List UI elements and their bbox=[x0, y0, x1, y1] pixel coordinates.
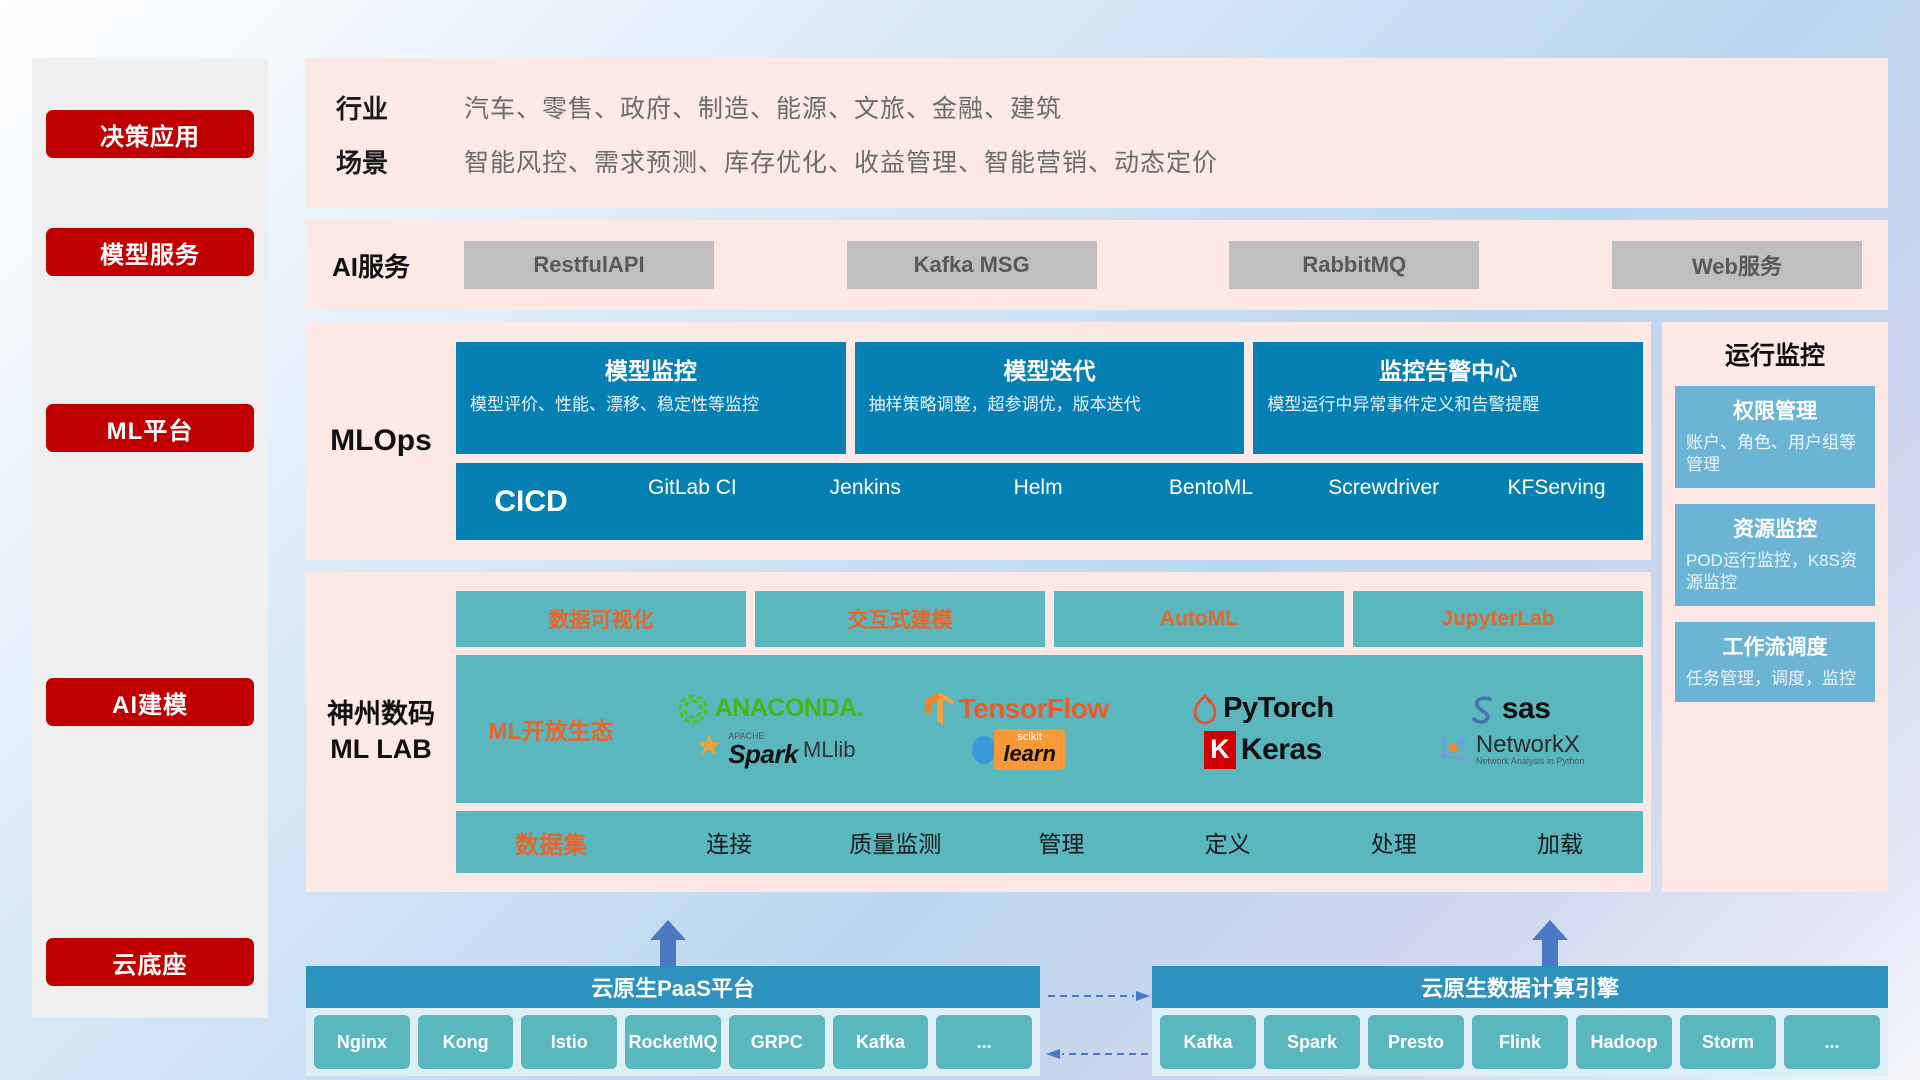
keras-wordmark: Keras bbox=[1241, 733, 1322, 767]
anaconda-icon bbox=[676, 692, 710, 726]
paas-chip-istio[interactable]: Istio bbox=[521, 1015, 617, 1069]
ml-lab-label-line1: 神州数码 bbox=[306, 697, 456, 732]
dataset-item-load[interactable]: 加载 bbox=[1477, 825, 1643, 859]
paas-chip-kong[interactable]: Kong bbox=[418, 1015, 514, 1069]
dataset-item-define[interactable]: 定义 bbox=[1145, 825, 1311, 859]
scenario-values: 智能风控、需求预测、库存优化、收益管理、智能营销、动态定价 bbox=[464, 143, 1218, 179]
monitor-card-desc: POD运行监控，K8S资源监控 bbox=[1686, 550, 1864, 594]
mlops-card-list: 模型监控 模型评价、性能、漂移、稳定性等监控 模型迭代 抽样策略调整，超参调优，… bbox=[456, 342, 1643, 454]
engine-chip-list: Kafka Spark Presto Flink Hadoop Storm ..… bbox=[1152, 1008, 1888, 1076]
mlops-card-title: 监控告警中心 bbox=[1267, 352, 1629, 386]
pytorch-icon bbox=[1192, 692, 1218, 726]
stack-layer-rail: 决策应用 模型服务 ML平台 AI建模 云底座 bbox=[32, 58, 268, 1018]
cicd-item-list: GitLab CI Jenkins Helm BentoML Screwdriv… bbox=[606, 474, 1643, 530]
mlops-card-title: 模型迭代 bbox=[869, 352, 1231, 386]
scenario-label: 场景 bbox=[336, 143, 464, 180]
dataset-bar: 数据集 连接 质量监测 管理 定义 处理 加载 bbox=[456, 811, 1643, 873]
sas-icon bbox=[1469, 693, 1497, 725]
keras-logo: K Keras bbox=[1204, 731, 1322, 769]
ai-service-chip-restfulapi[interactable]: RestfulAPI bbox=[464, 241, 714, 289]
ml-ecosystem-logo-grid: ANACONDA. TensorFlow bbox=[646, 688, 1643, 770]
cicd-bar: CICD GitLab CI Jenkins Helm BentoML Scre… bbox=[456, 463, 1643, 540]
monitor-card-desc: 任务管理，调度，监控 bbox=[1686, 668, 1864, 690]
mlops-label: MLOps bbox=[306, 424, 456, 458]
mlops-card-model-iteration[interactable]: 模型迭代 抽样策略调整，超参调优，版本迭代 bbox=[855, 342, 1245, 454]
engine-up-arrow bbox=[1530, 920, 1570, 966]
dataset-item-list: 连接 质量监测 管理 定义 处理 加载 bbox=[646, 825, 1643, 859]
dataset-item-process[interactable]: 处理 bbox=[1311, 825, 1477, 859]
engine-title: 云原生数据计算引擎 bbox=[1152, 966, 1888, 1008]
mllib-wordmark: MLlib bbox=[803, 737, 856, 763]
paas-chip-rocketmq[interactable]: RocketMQ bbox=[625, 1015, 721, 1069]
pytorch-logo: PyTorch bbox=[1192, 692, 1333, 726]
mlops-card-title: 模型监控 bbox=[470, 352, 832, 386]
cicd-item-bentoml[interactable]: BentoML bbox=[1124, 474, 1297, 530]
ml-ecosystem-label: ML开放生态 bbox=[456, 712, 646, 746]
ml-lab-label-line2: ML LAB bbox=[306, 732, 456, 767]
cloud-base-section: 云原生PaaS平台 Nginx Kong Istio RocketMQ GRPC… bbox=[306, 920, 1888, 1078]
engine-chip-flink[interactable]: Flink bbox=[1472, 1015, 1568, 1069]
engine-chip-kafka[interactable]: Kafka bbox=[1160, 1015, 1256, 1069]
tensorflow-icon bbox=[924, 691, 954, 727]
bidirectional-connector bbox=[1046, 982, 1150, 1068]
monitor-card-permission[interactable]: 权限管理 账户、角色、用户组等管理 bbox=[1675, 386, 1875, 488]
cicd-item-helm[interactable]: Helm bbox=[952, 474, 1125, 530]
rail-item-label: 模型服务 bbox=[100, 235, 200, 270]
cicd-title: CICD bbox=[456, 485, 606, 519]
monitor-card-title: 工作流调度 bbox=[1686, 631, 1864, 661]
rail-item-model-service[interactable]: 模型服务 bbox=[46, 228, 254, 276]
engine-chip-more[interactable]: ... bbox=[1784, 1015, 1880, 1069]
paas-chip-kafka[interactable]: Kafka bbox=[833, 1015, 929, 1069]
networkx-icon bbox=[1435, 732, 1471, 768]
learn-wordmark: learn bbox=[1003, 743, 1056, 765]
rail-item-cloud-base[interactable]: 云底座 bbox=[46, 938, 254, 986]
monitor-card-title: 权限管理 bbox=[1686, 395, 1864, 425]
industry-values: 汽车、零售、政府、制造、能源、文旅、金融、建筑 bbox=[464, 89, 1062, 125]
industry-row: 行业 汽车、零售、政府、制造、能源、文旅、金融、建筑 bbox=[336, 80, 1888, 134]
scenario-row: 场景 智能风控、需求预测、库存优化、收益管理、智能营销、动态定价 bbox=[336, 134, 1888, 188]
industry-label: 行业 bbox=[336, 89, 464, 126]
ml-lab-label: 神州数码 ML LAB bbox=[306, 697, 456, 767]
mlops-band: MLOps 模型监控 模型评价、性能、漂移、稳定性等监控 模型迭代 抽样策略调整… bbox=[306, 322, 1651, 560]
rail-item-ml-platform[interactable]: ML平台 bbox=[46, 404, 254, 452]
mlops-card-desc: 模型运行中异常事件定义和告警提醒 bbox=[1267, 394, 1629, 416]
runtime-monitoring-title: 运行监控 bbox=[1675, 336, 1875, 372]
networkx-logo: NetworkX Network Analysis in Python bbox=[1435, 732, 1585, 768]
dataset-title: 数据集 bbox=[456, 825, 646, 860]
ai-modeling-band: 神州数码 ML LAB 数据可视化 交互式建模 AutoML JupyterLa… bbox=[306, 572, 1651, 892]
ai-service-label: AI服务 bbox=[332, 247, 464, 284]
paas-title: 云原生PaaS平台 bbox=[306, 966, 1040, 1008]
tool-chip-interactive-modeling[interactable]: 交互式建模 bbox=[755, 591, 1045, 647]
tool-chip-data-visualization[interactable]: 数据可视化 bbox=[456, 591, 746, 647]
paas-up-arrow bbox=[648, 920, 688, 966]
rail-item-label: AI建模 bbox=[112, 685, 188, 720]
dataset-item-quality[interactable]: 质量监测 bbox=[812, 825, 978, 859]
arrow-head-right bbox=[1136, 991, 1150, 1001]
mlops-card-desc: 模型评价、性能、漂移、稳定性等监控 bbox=[470, 394, 832, 416]
rail-item-decision-apps[interactable]: 决策应用 bbox=[46, 110, 254, 158]
keras-icon: K bbox=[1204, 731, 1236, 769]
ai-service-chip-kafka-msg[interactable]: Kafka MSG bbox=[847, 241, 1097, 289]
arrow-head-left bbox=[1046, 1049, 1060, 1059]
mlops-card-alert-center[interactable]: 监控告警中心 模型运行中异常事件定义和告警提醒 bbox=[1253, 342, 1643, 454]
rail-item-label: ML平台 bbox=[107, 411, 194, 446]
cicd-item-kfserving[interactable]: KFServing bbox=[1470, 474, 1643, 530]
monitor-card-title: 资源监控 bbox=[1686, 513, 1864, 543]
engine-group: 云原生数据计算引擎 Kafka Spark Presto Flink Hadoo… bbox=[1152, 966, 1888, 1076]
sas-logo: sas bbox=[1469, 692, 1551, 726]
ml-ecosystem-box: ML开放生态 ANACONDA. bbox=[456, 655, 1643, 803]
engine-chip-storm[interactable]: Storm bbox=[1680, 1015, 1776, 1069]
spark-mllib-logo: APACHE Spark MLlib bbox=[683, 730, 855, 770]
spark-icon bbox=[683, 730, 723, 770]
sas-wordmark: sas bbox=[1502, 692, 1551, 726]
mlops-card-model-monitoring[interactable]: 模型监控 模型评价、性能、漂移、稳定性等监控 bbox=[456, 342, 846, 454]
anaconda-logo: ANACONDA. bbox=[676, 692, 863, 726]
paas-group: 云原生PaaS平台 Nginx Kong Istio RocketMQ GRPC… bbox=[306, 966, 1040, 1076]
tool-chip-jupyterlab[interactable]: JupyterLab bbox=[1353, 591, 1643, 647]
ai-service-chip-web-service[interactable]: Web服务 bbox=[1612, 241, 1862, 289]
pytorch-wordmark: PyTorch bbox=[1223, 692, 1333, 725]
rail-item-label: 决策应用 bbox=[100, 117, 200, 152]
paas-chip-more[interactable]: ... bbox=[936, 1015, 1032, 1069]
tensorflow-logo: TensorFlow bbox=[924, 691, 1109, 727]
paas-chip-list: Nginx Kong Istio RocketMQ GRPC Kafka ... bbox=[306, 1008, 1040, 1076]
decision-apps-band: 行业 汽车、零售、政府、制造、能源、文旅、金融、建筑 场景 智能风控、需求预测、… bbox=[306, 58, 1888, 208]
cicd-item-screwdriver[interactable]: Screwdriver bbox=[1297, 474, 1470, 530]
engine-chip-hadoop[interactable]: Hadoop bbox=[1576, 1015, 1672, 1069]
monitor-card-desc: 账户、角色、用户组等管理 bbox=[1686, 432, 1864, 476]
cicd-item-gitlab-ci[interactable]: GitLab CI bbox=[606, 474, 779, 530]
engine-chip-presto[interactable]: Presto bbox=[1368, 1015, 1464, 1069]
dataset-item-manage[interactable]: 管理 bbox=[978, 825, 1144, 859]
ai-service-chip-list: RestfulAPI Kafka MSG RabbitMQ Web服务 bbox=[464, 241, 1862, 289]
tensorflow-wordmark: TensorFlow bbox=[959, 693, 1109, 725]
networkx-wordmark: NetworkX bbox=[1476, 732, 1585, 757]
spark-wordmark: Spark bbox=[728, 741, 798, 767]
networkx-tagline: Network Analysis in Python bbox=[1476, 757, 1585, 766]
paas-chip-nginx[interactable]: Nginx bbox=[314, 1015, 410, 1069]
runtime-monitoring-panel: 运行监控 权限管理 账户、角色、用户组等管理 资源监控 POD运行监控，K8S资… bbox=[1662, 322, 1888, 892]
engine-chip-spark[interactable]: Spark bbox=[1264, 1015, 1360, 1069]
scikit-learn-logo: scikit learn bbox=[967, 729, 1065, 770]
monitor-card-workflow[interactable]: 工作流调度 任务管理，调度，监控 bbox=[1675, 622, 1875, 702]
anaconda-wordmark: ANACONDA. bbox=[715, 694, 863, 723]
dataset-item-connect[interactable]: 连接 bbox=[646, 825, 812, 859]
ai-service-band: AI服务 RestfulAPI Kafka MSG RabbitMQ Web服务 bbox=[306, 220, 1888, 310]
monitor-card-resource[interactable]: 资源监控 POD运行监控，K8S资源监控 bbox=[1675, 504, 1875, 606]
cicd-item-jenkins[interactable]: Jenkins bbox=[779, 474, 952, 530]
ai-service-chip-rabbitmq[interactable]: RabbitMQ bbox=[1229, 241, 1479, 289]
tool-chip-automl[interactable]: AutoML bbox=[1054, 591, 1344, 647]
paas-chip-grpc[interactable]: GRPC bbox=[729, 1015, 825, 1069]
rail-item-label: 云底座 bbox=[113, 945, 188, 980]
rail-item-ai-modeling[interactable]: AI建模 bbox=[46, 678, 254, 726]
modeling-tool-list: 数据可视化 交互式建模 AutoML JupyterLab bbox=[456, 591, 1643, 647]
mlops-card-desc: 抽样策略调整，超参调优，版本迭代 bbox=[869, 394, 1231, 416]
